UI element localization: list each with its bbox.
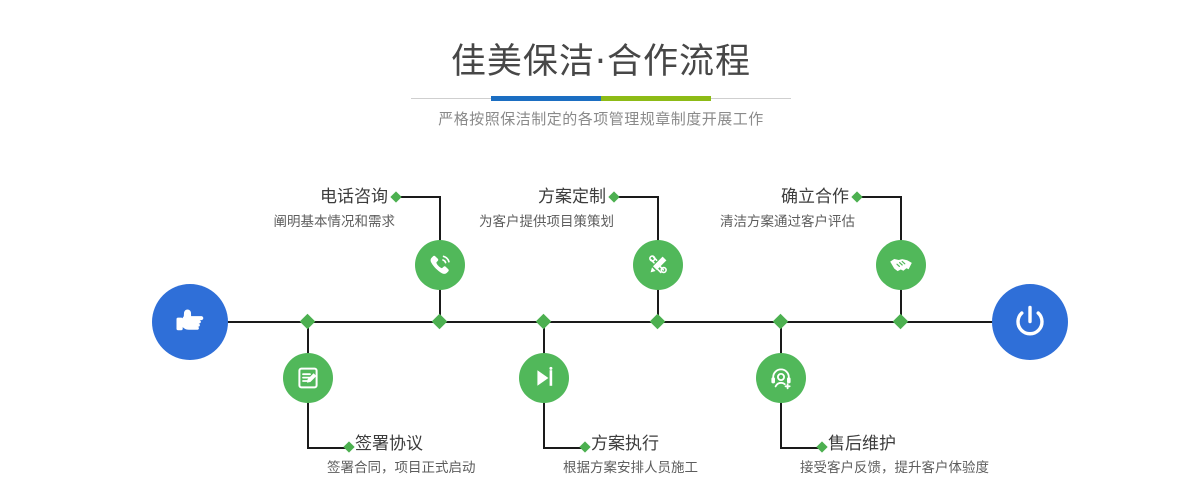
axis-marker-1 (432, 314, 448, 330)
axis-marker-2 (300, 314, 316, 330)
step-icon-1[interactable] (415, 240, 465, 290)
step-title-2: 签署协议 (355, 433, 423, 455)
connector-horizontal-4 (543, 447, 584, 449)
step-icon-5[interactable] (876, 240, 926, 290)
label-marker-3 (608, 191, 619, 202)
phone-call-icon (426, 251, 454, 279)
connector-horizontal-5 (860, 196, 901, 198)
step-icon-6[interactable] (756, 353, 806, 403)
step-title-6: 售后维护 (828, 433, 896, 455)
connector-horizontal-6 (780, 447, 821, 449)
divider-segment-blue (491, 96, 601, 101)
handshake-icon (887, 251, 915, 279)
customer-service-icon (767, 364, 795, 392)
step-desc-6: 接受客户反馈，提升客户体验度 (800, 458, 989, 478)
step-icon-3[interactable] (633, 240, 683, 290)
axis-marker-4 (536, 314, 552, 330)
step-title-4: 方案执行 (591, 433, 659, 455)
step-title-1: 电话咨询 (160, 186, 388, 208)
page-subtitle: 严格按照保洁制定的各项管理规章制度开展工作 (0, 108, 1202, 130)
label-marker-5 (851, 191, 862, 202)
timeline-start-node[interactable] (152, 284, 228, 360)
axis-marker-3 (650, 314, 666, 330)
label-marker-4 (579, 441, 590, 452)
flow-diagram-canvas: 佳美保洁·合作流程 严格按照保洁制定的各项管理规章制度开展工作 (0, 0, 1202, 502)
document-edit-icon (294, 364, 322, 392)
step-desc-5: 清洁方案通过客户评估 (590, 212, 855, 232)
power-icon (1009, 301, 1051, 343)
connector-horizontal-2 (307, 447, 348, 449)
timeline-end-node[interactable] (992, 284, 1068, 360)
play-execute-icon (530, 364, 558, 392)
divider-segment-green (601, 96, 711, 101)
label-marker-2 (343, 441, 354, 452)
title-divider (411, 96, 791, 102)
step-title-3: 方案定制 (380, 186, 606, 208)
page-title: 佳美保洁·合作流程 (0, 40, 1202, 84)
step-desc-4: 根据方案安排人员施工 (563, 458, 698, 478)
pencil-design-icon (644, 251, 672, 279)
axis-marker-5 (893, 314, 909, 330)
axis-marker-6 (773, 314, 789, 330)
pointing-hand-icon (170, 302, 210, 342)
step-icon-2[interactable] (283, 353, 333, 403)
step-desc-2: 签署合同，项目正式启动 (327, 458, 476, 478)
step-desc-3: 为客户提供项目策策划 (350, 212, 614, 232)
step-icon-4[interactable] (519, 353, 569, 403)
label-marker-6 (816, 441, 827, 452)
step-title-5: 确立合作 (630, 186, 849, 208)
